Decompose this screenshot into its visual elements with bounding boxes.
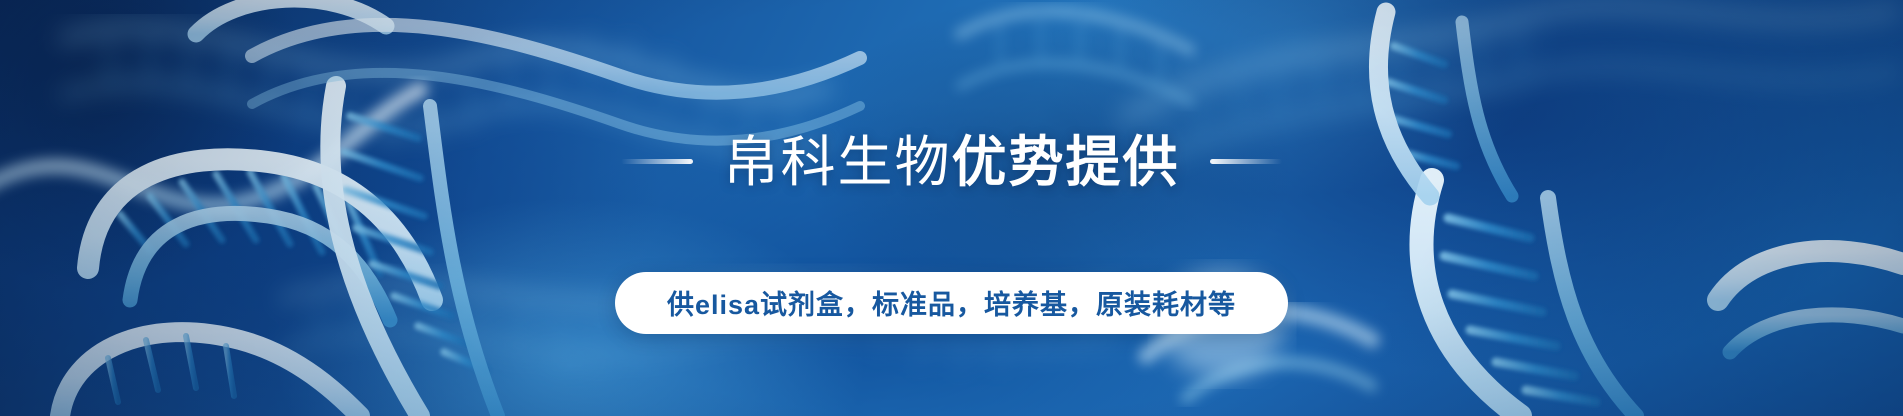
headline-brand: 帛科生物 bbox=[723, 131, 951, 193]
headline-row: 帛科生物优势提供 bbox=[621, 96, 1281, 228]
subtitle-pill[interactable]: 供elisa试剂盒，标准品，培养基，原装耗材等 bbox=[615, 272, 1288, 334]
decorative-dash-left bbox=[621, 159, 693, 164]
headline-emphasis: 优势提供 bbox=[952, 131, 1180, 193]
page-title: 帛科生物优势提供 bbox=[723, 133, 1179, 191]
decorative-dash-right bbox=[1210, 159, 1282, 164]
subtitle-pill-label: 供elisa试剂盒，标准品，培养基，原装耗材等 bbox=[667, 283, 1236, 322]
banner-content: 帛科生物优势提供 供elisa试剂盒，标准品，培养基，原装耗材等 bbox=[0, 0, 1903, 416]
promo-banner: 帛科生物优势提供 供elisa试剂盒，标准品，培养基，原装耗材等 bbox=[0, 0, 1903, 416]
